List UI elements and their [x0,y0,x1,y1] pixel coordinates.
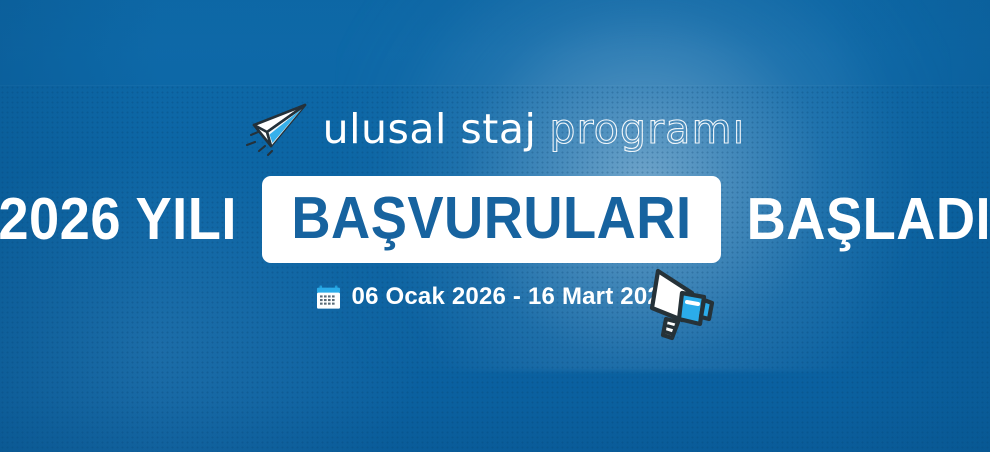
headline-suffix: BAŞLADI [739,190,990,249]
application-date-range: 06 Ocak 2026 - 16 Mart 2026 [0,281,990,313]
promo-banner: ulusal staj programı 2026 YILI BAŞVURULA… [0,0,990,452]
brand-name-secondary: programı [549,109,745,150]
headline: 2026 YILI BAŞVURULARI BAŞLADI [0,182,990,256]
date-range-text: 06 Ocak 2026 - 16 Mart 2026 [352,285,675,309]
headline-highlight-text: BAŞVURULARI [292,189,692,248]
headline-highlight-box: BAŞVURULARI [262,176,721,263]
calendar-icon [316,285,341,310]
brand-name-primary: ulusal staj [323,109,537,150]
headline-prefix: 2026 YILI [0,190,245,249]
brand-logo: ulusal staj programı [0,98,990,160]
banner-content: ulusal staj programı 2026 YILI BAŞVURULA… [0,0,990,452]
paper-plane-icon [245,101,311,159]
megaphone-icon [644,260,724,344]
brand-wordmark: ulusal staj programı [323,109,746,150]
